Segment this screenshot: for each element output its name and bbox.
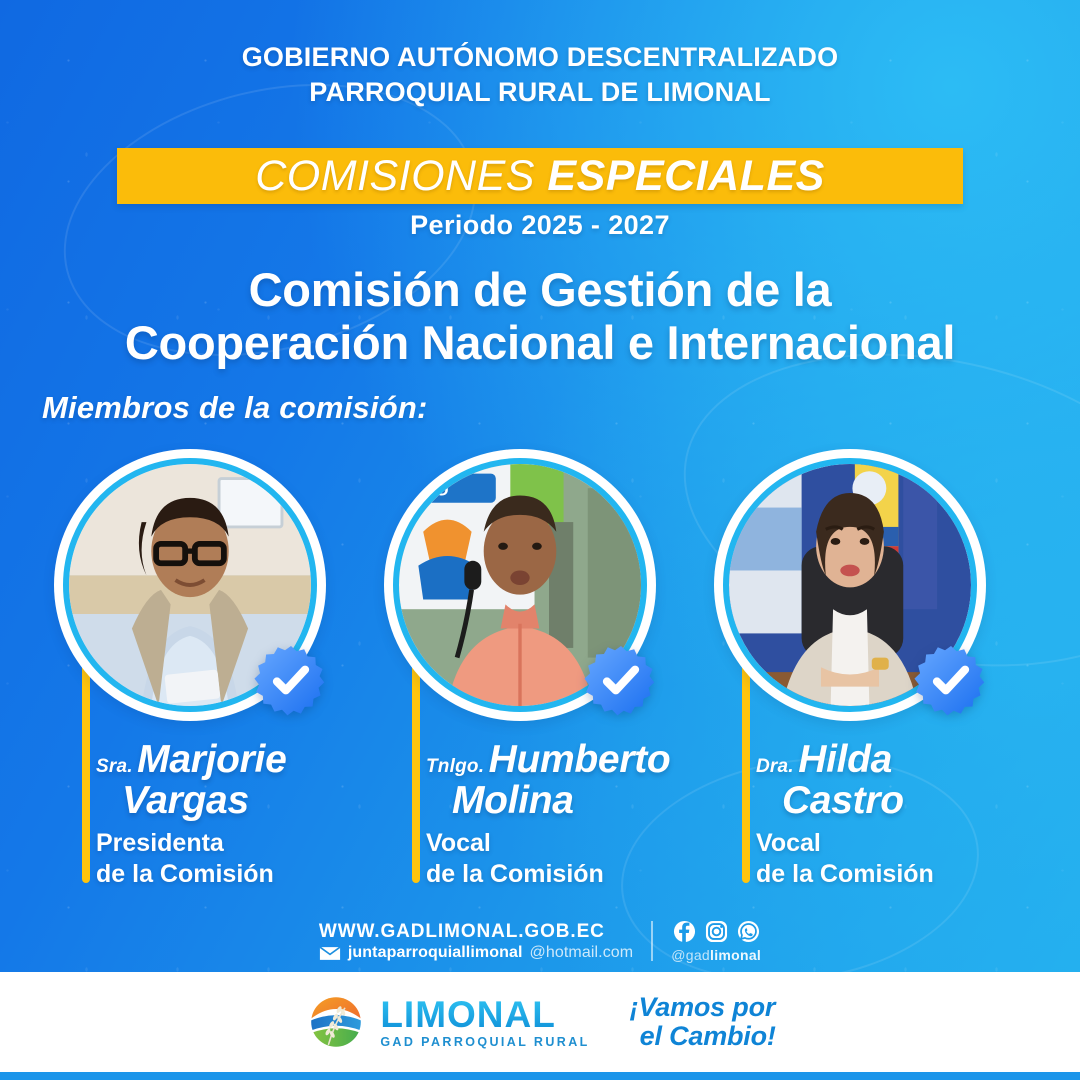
member-last-name: Molina	[426, 781, 684, 820]
title-ribbon: COMISIONES ESPECIALES	[117, 148, 963, 204]
member-name: Sra. Marjorie Vargas	[96, 740, 354, 820]
commission-line-1: Comisión de Gestión de la	[0, 264, 1080, 317]
footer-bar: LIMONAL GAD PARROQUIAL RURAL ¡Vamos por …	[0, 972, 1080, 1072]
email-user: juntaparroquiallimonal	[348, 945, 523, 961]
member-photo-frame: RO	[384, 449, 656, 721]
instagram-icon[interactable]	[705, 920, 728, 943]
member-role-line-2: de la Comisión	[756, 859, 1014, 890]
member-role: Presidenta de la Comisión	[96, 828, 354, 889]
org-line-1: GOBIERNO AUTÓNOMO DESCENTRALIZADO	[0, 40, 1080, 75]
members-row: Sra. Marjorie Vargas Presidenta de la Co…	[0, 443, 1080, 903]
member-last-name: Vargas	[96, 781, 354, 820]
contact-right: @gadlimonal	[671, 920, 761, 963]
member-photo-frame	[54, 449, 326, 721]
ribbon-word-1: COMISIONES	[255, 152, 535, 200]
member-last-name: Castro	[756, 781, 1014, 820]
member-photo-frame	[714, 449, 986, 721]
member-card: Sra. Marjorie Vargas Presidenta de la Co…	[20, 443, 360, 903]
verified-badge-icon	[254, 643, 328, 717]
brand-name: LIMONAL	[380, 996, 589, 1033]
whatsapp-icon[interactable]	[737, 920, 760, 943]
member-honorific: Dra.	[756, 756, 794, 777]
member-first-name: Humberto	[489, 738, 671, 781]
commission-title: Comisión de Gestión de la Cooperación Na…	[0, 264, 1080, 369]
social-handle: @gadlimonal	[671, 947, 761, 963]
social-icons	[671, 920, 761, 943]
commission-line-2: Cooperación Nacional e Internacional	[0, 317, 1080, 370]
member-honorific: Sra.	[96, 756, 133, 777]
member-role-line-2: de la Comisión	[96, 859, 354, 890]
ribbon-title: COMISIONES ESPECIALES	[255, 155, 825, 198]
member-first-name: Marjorie	[137, 738, 286, 781]
slogan-line-1: ¡Vamos por	[630, 993, 776, 1022]
limonal-logo-icon	[304, 991, 368, 1053]
member-name: Dra. Hilda Castro	[756, 740, 1014, 820]
period-label: Periodo 2025 - 2027	[0, 210, 1080, 241]
member-name: Tnlgo. Humberto Molina	[426, 740, 684, 820]
member-card: RO	[350, 443, 690, 903]
member-honorific: Tnlgo.	[426, 756, 484, 777]
email-domain: @hotmail.com	[530, 945, 634, 961]
members-label: Miembros de la comisión:	[42, 390, 428, 426]
envelope-icon	[319, 946, 341, 961]
member-role: Vocal de la Comisión	[426, 828, 684, 889]
handle-name: limonal	[710, 947, 761, 963]
ribbon-word-2: ESPECIALES	[547, 152, 824, 200]
member-role-line-1: Vocal	[756, 828, 1014, 859]
contact-divider	[651, 921, 653, 961]
contact-left: WWW.GADLIMONAL.GOB.EC juntaparroquiallim…	[319, 921, 633, 962]
slogan: ¡Vamos por el Cambio!	[630, 993, 776, 1051]
handle-prefix: @gad	[671, 947, 710, 963]
verified-badge-icon	[584, 643, 658, 717]
facebook-icon[interactable]	[673, 920, 696, 943]
member-card: Dra. Hilda Castro Vocal de la Comisión	[680, 443, 1020, 903]
bottom-accent-bar	[0, 1072, 1080, 1080]
verified-badge-icon	[914, 643, 988, 717]
brand-lockup: LIMONAL GAD PARROQUIAL RURAL	[304, 991, 589, 1053]
brand-subtitle: GAD PARROQUIAL RURAL	[380, 1036, 589, 1049]
organization-header: GOBIERNO AUTÓNOMO DESCENTRALIZADO PARROQ…	[0, 40, 1080, 109]
member-role-line-2: de la Comisión	[426, 859, 684, 890]
poster-canvas: GOBIERNO AUTÓNOMO DESCENTRALIZADO PARROQ…	[0, 0, 1080, 1080]
svg-text:RO: RO	[423, 480, 448, 499]
contact-strip: WWW.GADLIMONAL.GOB.EC juntaparroquiallim…	[0, 916, 1080, 966]
member-role-line-1: Vocal	[426, 828, 684, 859]
member-role: Vocal de la Comisión	[756, 828, 1014, 889]
slogan-line-2: el Cambio!	[630, 1022, 776, 1051]
member-first-name: Hilda	[798, 738, 892, 781]
website-link[interactable]: WWW.GADLIMONAL.GOB.EC	[319, 921, 633, 943]
member-role-line-1: Presidenta	[96, 828, 354, 859]
brand-text: LIMONAL GAD PARROQUIAL RURAL	[380, 996, 589, 1049]
email-row[interactable]: juntaparroquiallimonal@hotmail.com	[319, 945, 633, 961]
org-line-2: PARROQUIAL RURAL DE LIMONAL	[0, 75, 1080, 110]
